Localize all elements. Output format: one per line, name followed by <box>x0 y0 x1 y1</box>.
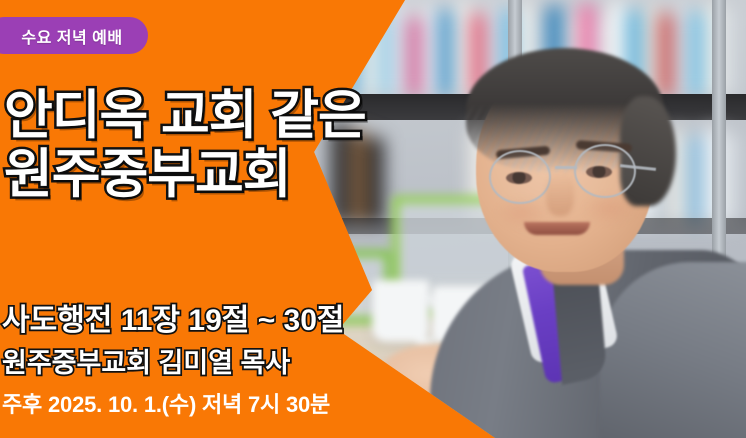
coffee-mug-left <box>372 280 430 342</box>
mouth-smile <box>524 222 590 235</box>
eyeglasses-lens-left <box>489 150 551 204</box>
speaker-name: 원주중부교회 김미열 목사 <box>2 341 290 380</box>
worship-service-banner: 수요 저녁 예배 안디옥 교회 같은 원주중부교회 사도행전 11장 19절 ~… <box>0 0 746 438</box>
service-datetime: 주후 2025. 10. 1.(수) 저녁 7시 30분 <box>2 387 330 419</box>
eyeglasses-lens-right <box>574 144 636 198</box>
headline-line-2: 원주중부교회 <box>4 132 291 208</box>
eyeglasses-bridge <box>555 166 577 169</box>
service-type-badge-label: 수요 저녁 예배 <box>21 24 122 48</box>
service-type-badge: 수요 저녁 예배 <box>0 17 148 54</box>
nose <box>546 172 574 216</box>
scripture-reference: 사도행전 11장 19절 ~ 30절 <box>2 295 345 339</box>
